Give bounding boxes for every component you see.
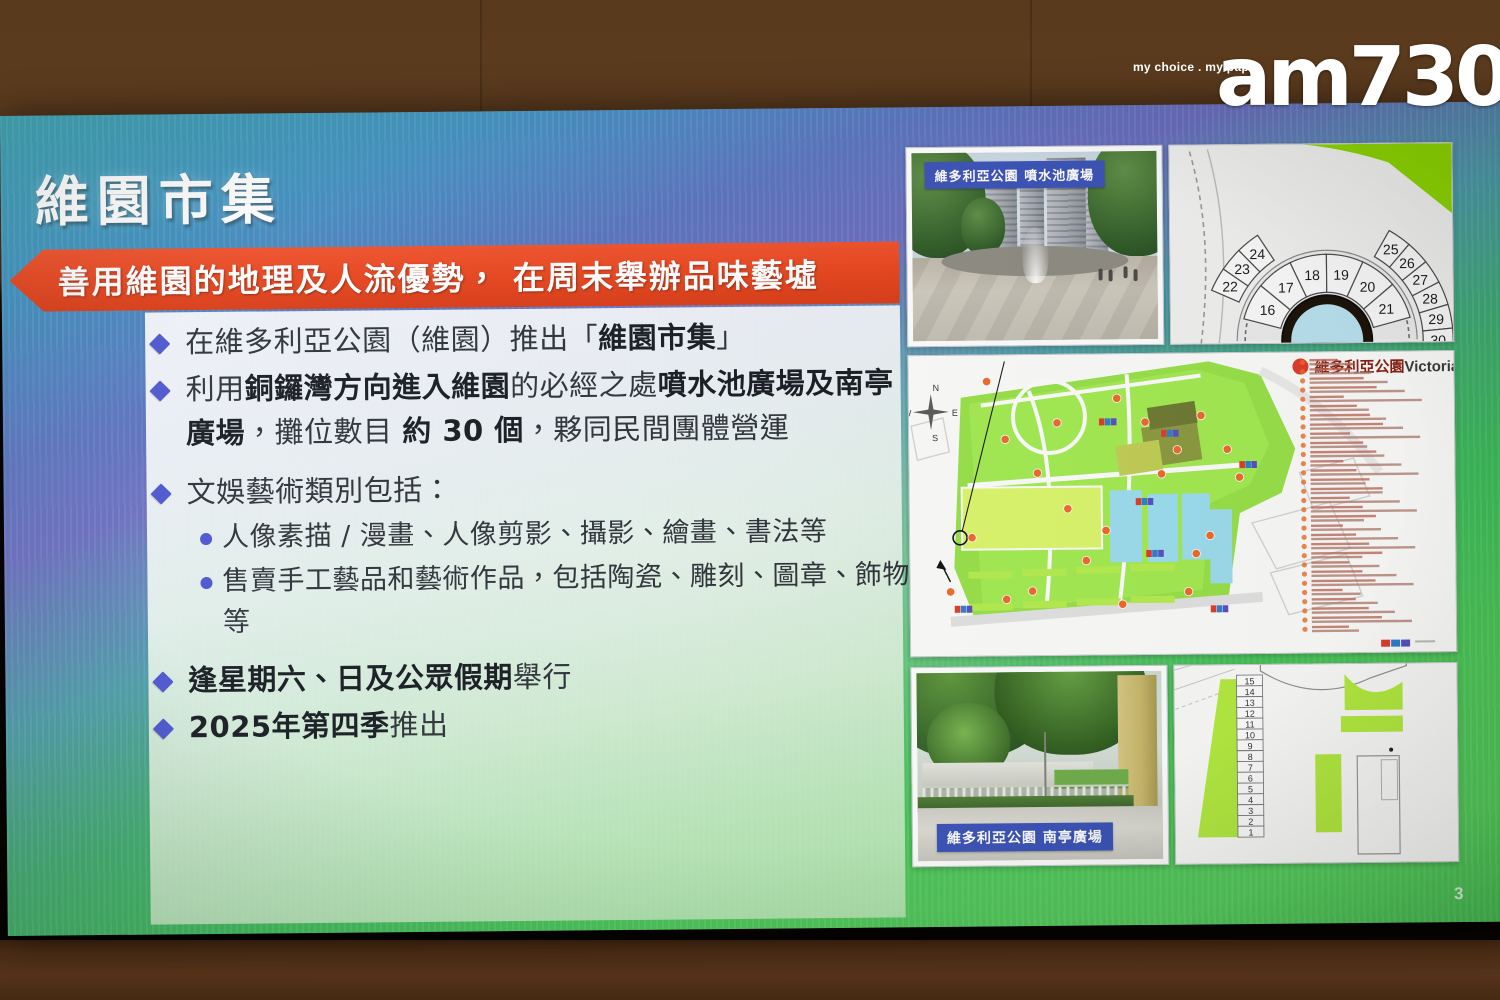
- stall-number: 13: [1245, 698, 1255, 708]
- stall-number: 17: [1278, 279, 1294, 295]
- map-facility-marker: [1235, 473, 1243, 481]
- legend-marker-icon: [1302, 553, 1307, 558]
- bullet-list: 在維多利亞公園（維園）推出「維園市集」利用銅鑼灣方向進入維園的必經之處噴水池廣場…: [152, 313, 916, 753]
- legend-marker-icon: [1301, 525, 1306, 530]
- stall-number: 26: [1399, 255, 1415, 271]
- bullet-item: 2025年第四季推出: [156, 699, 916, 750]
- stall-number: 11: [1245, 719, 1254, 729]
- bullet-text: 文娛藝術類別包括：: [186, 468, 452, 515]
- svg-text:S: S: [932, 433, 938, 443]
- legend-marker-icon: [1300, 415, 1305, 420]
- map-toilet-marker: [1136, 498, 1154, 505]
- map-facility-marker: [1028, 587, 1036, 595]
- map-facility-marker: [1184, 587, 1192, 595]
- bullet-text: 售賣手工藝品和藝術作品，包括陶瓷、雕刻、圖章、飾物等: [222, 555, 915, 644]
- map-facility-marker: [968, 533, 976, 541]
- photo-fountain-plaza: 維多利亞公園 噴水池廣場: [905, 145, 1164, 347]
- map-facility-marker: [1118, 600, 1126, 608]
- map-facility-marker: [1064, 505, 1072, 513]
- pedestrian: [1099, 268, 1103, 280]
- stall-number: 2: [1248, 817, 1253, 827]
- sub-bullet-marker-icon: [200, 533, 212, 545]
- map-facility-marker: [1141, 418, 1149, 426]
- stall-number: 23: [1234, 261, 1250, 277]
- legend-marker-icon: [1300, 424, 1305, 429]
- map-toilet-marker: [1239, 461, 1257, 468]
- stall-number: 1: [1248, 828, 1253, 838]
- stall-number: 7: [1248, 763, 1253, 773]
- stall-number: 9: [1248, 741, 1253, 751]
- bullet-text: 在維多利亞公園（維園）推出「維園市集」: [185, 315, 746, 364]
- stall-number: 30: [1430, 332, 1446, 344]
- stall-number: 22: [1222, 278, 1238, 294]
- bullet-marker-icon: [150, 380, 171, 401]
- legend-marker-icon: [1301, 507, 1306, 512]
- legend-line: [1310, 469, 1356, 472]
- legend-marker-icon: [1302, 599, 1307, 604]
- legend-marker-icon: [1302, 617, 1307, 622]
- legend-line: [1310, 441, 1363, 444]
- map-toilet-marker: [1146, 550, 1164, 557]
- map-title-en: Victoria Park: [1404, 358, 1456, 376]
- legend-line: [1309, 363, 1353, 366]
- bullet-item: 文娛藝術類別包括：: [153, 463, 913, 514]
- legend-line: [1309, 368, 1350, 371]
- legend-marker-icon: [1301, 461, 1306, 466]
- bullet-item: 利用銅鑼灣方向進入維園的必經之處噴水池廣場及南亭廣場，攤位數目 約 30 個，夥…: [152, 360, 913, 455]
- map-toilet-marker: [1099, 418, 1117, 425]
- photo-pavilion-plaza: 維多利亞公園 南亭廣場: [910, 665, 1169, 867]
- am730-wordmark: am730: [1216, 44, 1466, 111]
- legend-marker-icon: [1300, 397, 1305, 402]
- map-facility-marker: [1206, 531, 1214, 539]
- stall-number: 5: [1248, 784, 1253, 794]
- map-facility-marker: [1173, 445, 1181, 453]
- legend-marker-icon: [1301, 470, 1306, 475]
- stall-number: 3: [1248, 806, 1253, 816]
- svg-text:N: N: [933, 383, 940, 393]
- legend-line: [1310, 460, 1343, 463]
- slide-subtitle-banner: 善用維園的地理及人流優勢， 在周末舉辦品味藝墟: [9, 241, 900, 312]
- legend-marker-icon: [1302, 571, 1307, 576]
- map-toilet-marker: [1211, 605, 1229, 612]
- legend-marker-icon: [1302, 627, 1307, 632]
- legend-line: [1309, 359, 1337, 362]
- map-victoria-park-svg: N E S W 維多利亞公園 Victoria Park: [908, 351, 1456, 656]
- legend-line: [1312, 629, 1359, 632]
- legend-line: [1311, 561, 1349, 564]
- stall-number: 14: [1245, 687, 1255, 697]
- map-toilet-marker: [1161, 430, 1179, 437]
- legend-marker-icon: [1300, 387, 1305, 392]
- legend-marker-icon: [1301, 498, 1306, 503]
- sub-bullet-marker-icon: [200, 577, 212, 589]
- bullet-item: 逢星期六、日及公眾假期舉行: [155, 652, 915, 703]
- stall-number: 29: [1428, 311, 1444, 327]
- legend-line: [1311, 524, 1343, 527]
- stall-number: 10: [1245, 730, 1255, 740]
- legend-line: [1312, 598, 1356, 601]
- legend-line: [1310, 396, 1344, 399]
- photo-fountain-caption: 維多利亞公園 噴水池廣場: [924, 160, 1104, 189]
- map-facility-marker: [1001, 435, 1009, 443]
- map-facility-marker: [1053, 419, 1061, 427]
- bullet-item: 在維多利亞公園（維園）推出「維園市集」: [152, 313, 912, 364]
- legend-line: [1310, 405, 1357, 408]
- map-facility-marker: [1082, 556, 1090, 564]
- bullet-item: 人像素描 / 漫畫、人像剪影、攝影、繪畫、書法等: [200, 511, 914, 559]
- map-facility-marker: [1113, 394, 1121, 402]
- stall-number: 8: [1248, 752, 1253, 762]
- pedestrian: [1109, 270, 1113, 282]
- diagram-fountain-svg: 161718192021222324252627282930: [1169, 143, 1453, 344]
- legend-line: [1311, 519, 1364, 522]
- stall-number: 6: [1248, 774, 1253, 784]
- map-toilet-marker: [955, 606, 973, 613]
- stall-number: 25: [1383, 241, 1399, 257]
- legend-marker-icon: [1300, 369, 1305, 374]
- am730-tagline: my choice . my paper: [1133, 60, 1261, 74]
- bullet-text: 逢星期六、日及公眾假期舉行: [188, 655, 572, 703]
- map-facility-marker: [946, 588, 954, 596]
- slide-title: 維園市集: [34, 155, 283, 236]
- legend-marker-icon: [1301, 452, 1306, 457]
- legend-line: [1312, 589, 1343, 592]
- pedestrian: [1123, 266, 1127, 278]
- legend-marker-icon: [1300, 360, 1305, 365]
- legend-line: [1311, 556, 1362, 559]
- map-facility-marker: [1197, 411, 1205, 419]
- bullet-marker-icon: [153, 719, 174, 740]
- map-facility-marker: [1102, 526, 1110, 534]
- map-facility-marker: [1223, 445, 1231, 453]
- legend-marker-icon: [1301, 443, 1306, 448]
- legend-marker-icon: [1301, 479, 1306, 484]
- map-victoria-park: N E S W 維多利亞公園 Victoria Park: [907, 350, 1457, 657]
- legend-line: [1311, 497, 1350, 500]
- bullet-marker-icon: [149, 333, 170, 354]
- legend-marker-icon: [1301, 489, 1306, 494]
- am730-logo: my choice . my paper am730: [1216, 44, 1466, 111]
- legend-line: [1311, 570, 1362, 573]
- map-facility-marker: [982, 377, 990, 385]
- legend-line: [1311, 506, 1363, 509]
- stall-number: 19: [1333, 267, 1349, 283]
- diagram-fountain-stalls: 161718192021222324252627282930: [1168, 142, 1454, 345]
- bullet-text: 2025年第四季推出: [189, 703, 449, 750]
- legend-line: [1312, 593, 1361, 596]
- bullet-marker-icon: [151, 484, 172, 505]
- pedestrian: [1133, 270, 1137, 282]
- legend-line: [1312, 625, 1349, 628]
- slide-subtitle-text: 善用維園的地理及人流優勢， 在周末舉辦品味藝墟: [57, 250, 819, 303]
- legend-marker-icon: [1300, 378, 1305, 383]
- legend-line: [1311, 533, 1356, 536]
- svg-text:E: E: [952, 408, 958, 418]
- legend-marker-icon: [1302, 562, 1307, 567]
- projected-slide: 維園市集 善用維園的地理及人流優勢， 在周末舉辦品味藝墟 在維多利亞公園（維園）…: [0, 102, 1500, 936]
- stall-number: 24: [1249, 246, 1265, 262]
- legend-marker-icon: [1302, 544, 1307, 549]
- stall-number: 20: [1360, 279, 1376, 295]
- bullet-marker-icon: [152, 672, 173, 693]
- stall-number: 16: [1260, 302, 1276, 318]
- stall-number: 4: [1248, 795, 1253, 805]
- legend-marker-icon: [1302, 608, 1307, 613]
- slide-page-number: 3: [1454, 884, 1464, 904]
- bullet-text: 人像素描 / 漫畫、人像剪影、攝影、繪畫、書法等: [222, 511, 828, 558]
- map-facility-marker: [1033, 469, 1041, 477]
- map-facility-marker: [1002, 595, 1010, 603]
- stall-number: 18: [1304, 267, 1320, 283]
- diagram-pavilion-stalls: 151413121110987654321: [1173, 662, 1459, 865]
- stall-number: 12: [1245, 709, 1255, 719]
- bullet-item: 售賣手工藝品和藝術作品，包括陶瓷、雕刻、圖章、飾物等: [200, 555, 915, 644]
- legend-marker-icon: [1300, 406, 1305, 411]
- legend-marker-icon: [1302, 590, 1307, 595]
- legend-line: [1310, 432, 1350, 435]
- legend-marker-icon: [1301, 516, 1306, 521]
- fountain-jet: [1022, 227, 1049, 283]
- bullet-text: 利用銅鑼灣方向進入維園的必經之處噴水池廣場及南亭廣場，攤位數目 約 30 個，夥…: [185, 360, 913, 455]
- map-facility-marker: [1192, 549, 1200, 557]
- pavilion-stall-cells: 151413121110987654321: [1236, 675, 1264, 838]
- legend-marker-icon: [1301, 535, 1306, 540]
- legend-marker-icon: [1302, 581, 1307, 586]
- photo-pavilion-caption: 維多利亞公園 南亭廣場: [937, 822, 1113, 852]
- stall-number: 15: [1244, 676, 1254, 686]
- legend-marker-icon: [1301, 433, 1306, 438]
- stall-number: 28: [1422, 291, 1438, 307]
- stall-number: 27: [1412, 272, 1428, 288]
- stall-number: 21: [1378, 301, 1394, 317]
- tree: [961, 197, 1006, 254]
- diagram-pavilion-svg: 151413121110987654321: [1174, 663, 1458, 864]
- map-facility-marker: [1157, 470, 1165, 478]
